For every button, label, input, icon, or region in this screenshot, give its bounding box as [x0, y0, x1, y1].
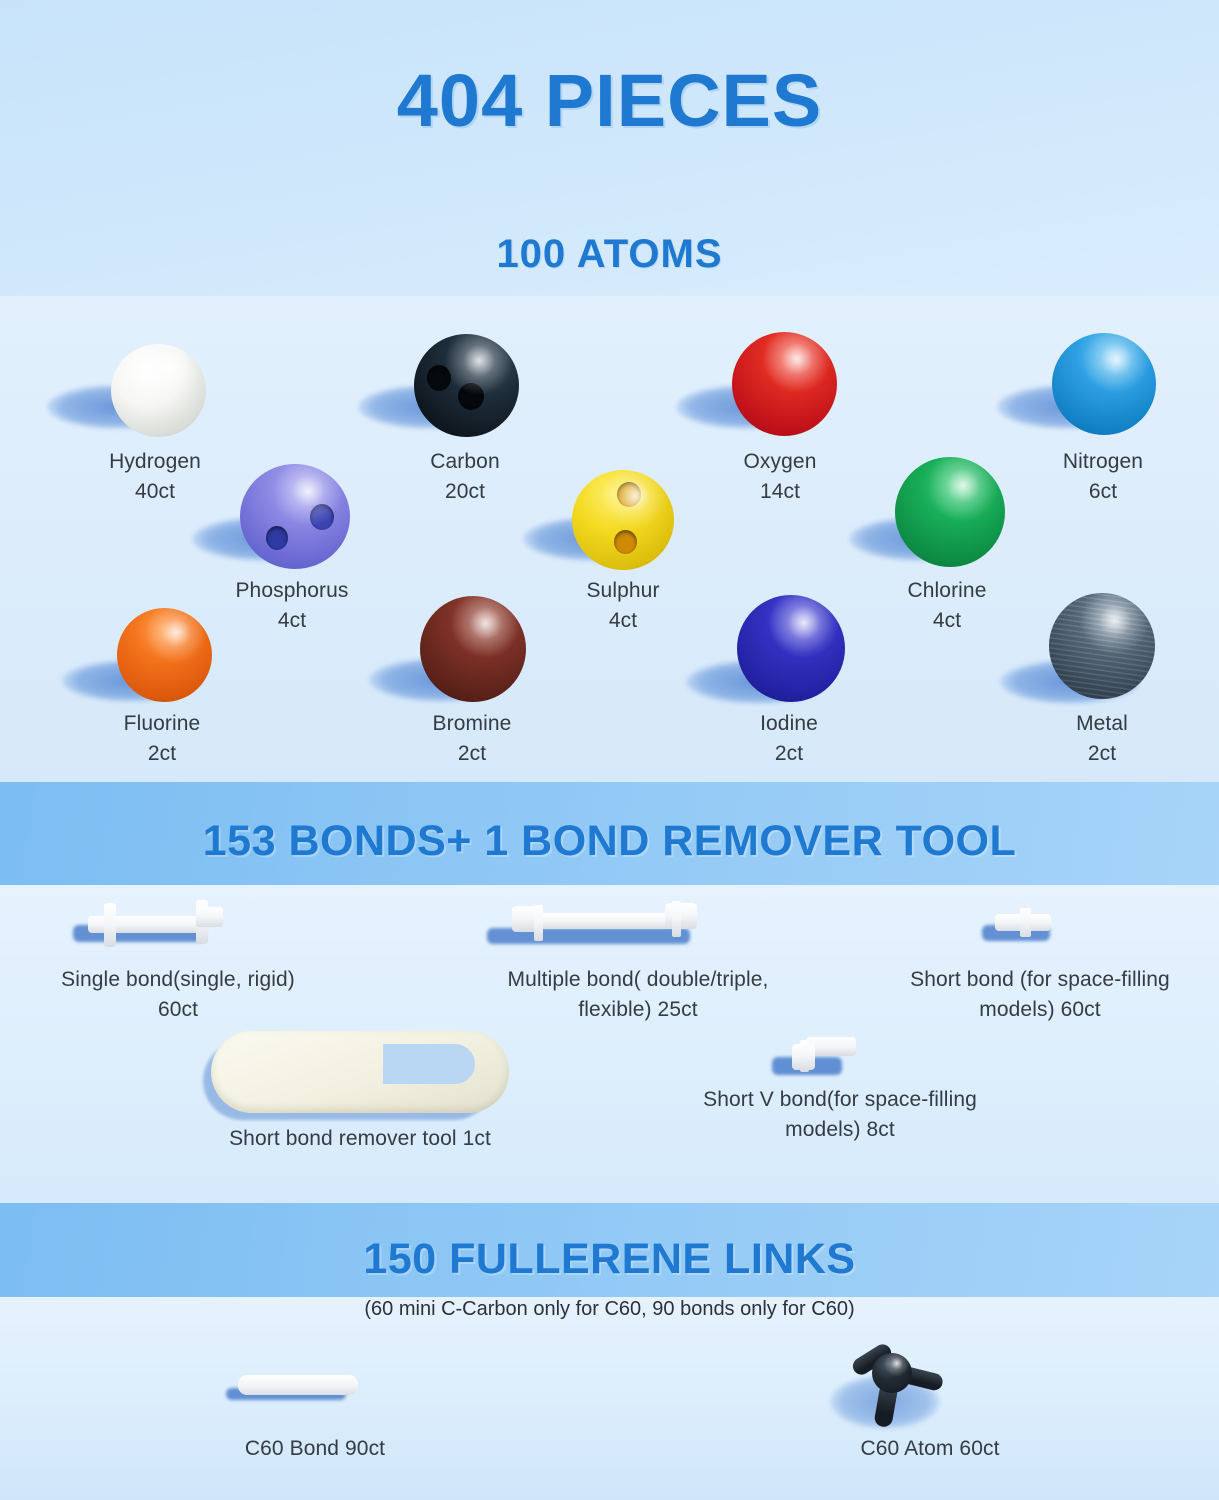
fullerene-label: C60 Atom 60ct [790, 1434, 1070, 1464]
bond-label-line2: flexible) 25ct [438, 995, 838, 1025]
multiple-bond-collar-left [534, 905, 543, 941]
atom-ball-chlorine [895, 457, 1005, 567]
atom-ball-oxygen [732, 332, 837, 436]
atom-ball-sulphur [572, 470, 674, 570]
metal-swirl-texture [1049, 593, 1155, 699]
atom-ball-hydrogen [111, 344, 206, 437]
c60-bond-piece [238, 1375, 358, 1395]
atom-count: 4ct [847, 606, 1047, 636]
atom-count: 14ct [680, 477, 880, 507]
atom-ball-fluorine [117, 608, 212, 702]
atom-label: Sulphur [523, 576, 723, 606]
atom-count: 2ct [1002, 739, 1202, 769]
atom-label: Oxygen [680, 447, 880, 477]
atom-caption-carbon: Carbon 20ct [365, 447, 565, 507]
short-bond-collar [1020, 908, 1031, 937]
fullerene-caption-c60-atom: C60 Atom 60ct [790, 1434, 1070, 1464]
bond-caption-short-v: Short V bond(for space-filling models) 8… [660, 1085, 1020, 1145]
page-title: 404 PIECES [0, 58, 1219, 143]
atom-label: Hydrogen [55, 447, 255, 477]
atom-caption-sulphur: Sulphur 4ct [523, 576, 723, 636]
bonds-heading: 153 BONDS+ 1 BOND REMOVER TOOL [0, 817, 1219, 866]
atom-count: 2ct [62, 739, 262, 769]
atom-label: Fluorine [62, 709, 262, 739]
bond-label-line1: Short V bond(for space-filling [660, 1085, 1020, 1115]
atom-label: Metal [1002, 709, 1202, 739]
atom-caption-oxygen: Oxygen 14ct [680, 447, 880, 507]
atom-ball-nitrogen [1052, 333, 1156, 435]
bond-label-line2: 60ct [18, 995, 338, 1025]
bond-label-line2: models) 8ct [660, 1115, 1020, 1145]
atom-caption-nitrogen: Nitrogen 6ct [1003, 447, 1203, 507]
fullerene-heading: 150 FULLERENE LINKS [0, 1235, 1219, 1284]
bond-hole [617, 482, 641, 507]
bond-hole [458, 383, 484, 410]
multiple-bond-end-right [665, 903, 697, 929]
atom-count: 6ct [1003, 477, 1203, 507]
short-v-bond-collar [800, 1040, 809, 1072]
bond-label-line1: Short bond (for space-filling [870, 965, 1210, 995]
atom-caption-chlorine: Chlorine 4ct [847, 576, 1047, 636]
fullerene-caption-c60-bond: C60 Bond 90ct [175, 1434, 455, 1464]
bond-label-line1: Multiple bond( double/triple, [438, 965, 838, 995]
bond-hole [614, 530, 637, 554]
atoms-heading: 100 ATOMS [0, 232, 1219, 277]
bond-label-line2: models) 60ct [870, 995, 1210, 1025]
atom-count: 40ct [55, 477, 255, 507]
atom-count: 2ct [689, 739, 889, 769]
atom-caption-hydrogen: Hydrogen 40ct [55, 447, 255, 507]
atom-caption-phosphorus: Phosphorus 4ct [192, 576, 392, 636]
atom-label: Phosphorus [192, 576, 392, 606]
fullerene-label: C60 Bond 90ct [175, 1434, 455, 1464]
atom-count: 20ct [365, 477, 565, 507]
atom-ball-bromine [420, 596, 526, 702]
atom-label: Nitrogen [1003, 447, 1203, 477]
bond-hole [310, 504, 334, 530]
bond-hole [266, 526, 288, 550]
atom-count: 2ct [372, 739, 572, 769]
bond-caption-multiple: Multiple bond( double/triple, flexible) … [438, 965, 838, 1025]
atom-caption-bromine: Bromine 2ct [372, 709, 572, 769]
atom-ball-phosphorus [240, 464, 350, 569]
bond-caption-single: Single bond(single, rigid) 60ct [18, 965, 338, 1025]
atom-caption-metal: Metal 2ct [1002, 709, 1202, 769]
atom-ball-carbon [414, 334, 519, 437]
bond-hole [427, 365, 451, 391]
bond-label-line1: Single bond(single, rigid) [18, 965, 338, 995]
single-bond-collar-left [104, 903, 116, 947]
infographic-page: 404 PIECES 100 ATOMS Hydrogen 40ct Carbo… [0, 0, 1219, 1500]
bond-label-line1: Short bond remover tool 1ct [180, 1124, 540, 1154]
atom-label: Chlorine [847, 576, 1047, 606]
bond-caption-remover-tool: Short bond remover tool 1ct [180, 1124, 540, 1154]
atom-label: Iodine [689, 709, 889, 739]
atom-ball-metal [1049, 593, 1155, 699]
bond-caption-short: Short bond (for space-filling models) 60… [870, 965, 1210, 1025]
single-bond-tip [196, 907, 223, 927]
multiple-bond-collar-right [672, 901, 681, 937]
atom-count: 4ct [192, 606, 392, 636]
fullerene-note: (60 mini C-Carbon only for C60, 90 bonds… [0, 1298, 1219, 1321]
atom-label: Carbon [365, 447, 565, 477]
band-fullerene-content [0, 1297, 1219, 1500]
atom-caption-fluorine: Fluorine 2ct [62, 709, 262, 769]
atom-count: 4ct [523, 606, 723, 636]
atom-label: Bromine [372, 709, 572, 739]
tool-slot-neck [383, 1055, 425, 1072]
atom-ball-iodine [737, 595, 845, 702]
c60-atom-piece [872, 1353, 912, 1393]
atom-caption-iodine: Iodine 2ct [689, 709, 889, 769]
